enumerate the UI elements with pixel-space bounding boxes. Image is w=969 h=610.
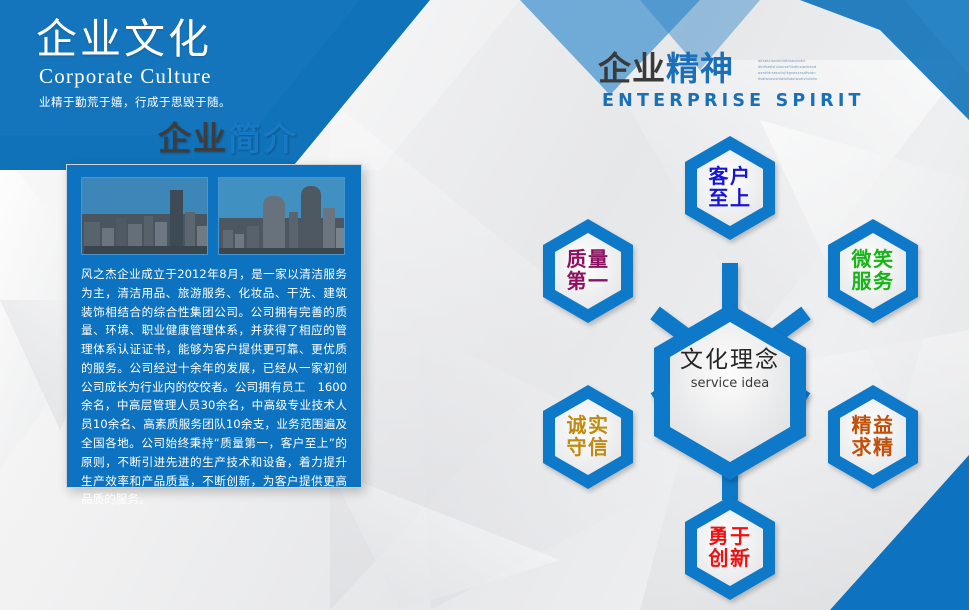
header-title-cn: 企业文化 (36, 18, 336, 61)
culture-hexagon-diagram: 客户 至上 质量 第一 微笑 服务 诚实 守信 精益 求精 勇于 创新 文化理念… (490, 108, 969, 610)
spirit-title-dark: 企业 (598, 49, 666, 88)
cityscape-photo-left (81, 177, 208, 255)
header-subtitle: 业精于勤荒于嬉，行成于思毁于随。 (39, 94, 336, 110)
spirit-decorative-text: difadsciavieldidklawsnvdkl dhdfsetlsfiul… (758, 58, 848, 88)
outer-hexagon-upper-right (828, 219, 918, 323)
center-hexagon-label-cn: 文化理念 (630, 340, 830, 374)
outer-hexagon-upper-left (543, 219, 633, 323)
center-hexagon-label-en: service idea (630, 376, 830, 391)
company-intro-body: 风之杰企业成立于2012年8月，是一家以清洁服务为主，清洁用品、旅游服务、化妆品… (67, 255, 361, 509)
cityscape-photo-right (218, 177, 345, 255)
intro-section-title: 企业简介 (158, 112, 298, 160)
spirit-title-blue: 精神 (666, 49, 734, 88)
outer-hexagon-bottom (685, 496, 775, 600)
spirit-section-title: 企业精神 ENTERPRISE SPIRIT difadsciavieldidk… (598, 52, 865, 111)
intro-title-dark: 企业 (158, 119, 228, 158)
header-title-block: 企业文化 Corporate Culture 业精于勤荒于嬉，行成于思毁于随。 (36, 18, 336, 110)
header-title-en: Corporate Culture (39, 64, 336, 89)
outer-hexagon-top (685, 136, 775, 240)
outer-hexagon-lower-right (828, 385, 918, 489)
poster-canvas: 企业文化 Corporate Culture 业精于勤荒于嬉，行成于思毁于随。 … (0, 0, 969, 610)
intro-title-blue: 简介 (228, 119, 298, 158)
company-intro-card: 风之杰企业成立于2012年8月，是一家以清洁服务为主，清洁用品、旅游服务、化妆品… (66, 164, 362, 488)
outer-hexagon-lower-left (543, 385, 633, 489)
intro-photo-row (67, 165, 361, 255)
